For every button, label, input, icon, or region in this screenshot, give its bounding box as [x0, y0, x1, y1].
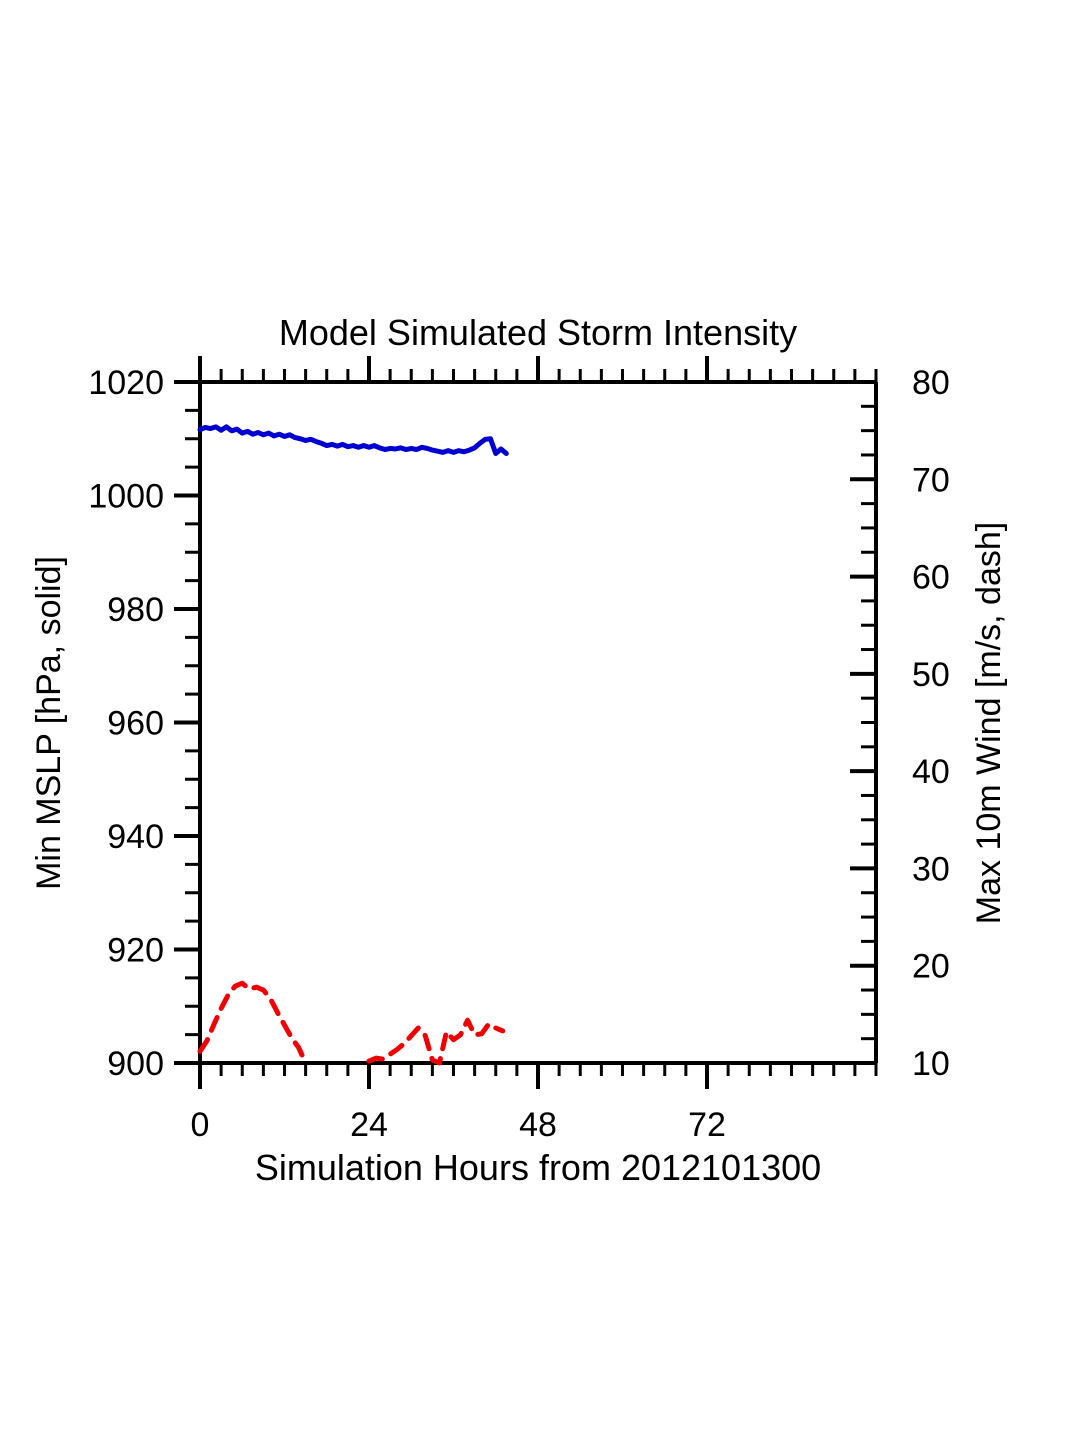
chart-title: Model Simulated Storm Intensity [279, 312, 797, 353]
y2-tick-label: 50 [912, 656, 950, 694]
y-tick-label: 900 [107, 1045, 164, 1083]
y2-tick-label: 30 [912, 850, 950, 888]
x-tick-label: 72 [688, 1106, 726, 1144]
y-tick-label: 1020 [88, 364, 164, 402]
y2-tick-label: 80 [912, 364, 950, 402]
y-tick-label: 940 [107, 818, 164, 856]
x-tick-label: 0 [191, 1106, 210, 1144]
y-tick-label: 960 [107, 705, 164, 743]
y2-tick-label: 70 [912, 461, 950, 499]
y2-tick-label: 10 [912, 1045, 950, 1083]
storm-intensity-chart: Model Simulated Storm Intensity 02448729… [0, 0, 1075, 1450]
y2-axis-title: Max 10m Wind [m/s, dash] [970, 522, 1008, 924]
x-tick-label: 48 [519, 1106, 557, 1144]
y2-tick-label: 20 [912, 948, 950, 986]
y-tick-label: 980 [107, 591, 164, 629]
y-axis-title: Min MSLP [hPa, solid] [30, 556, 68, 890]
x-axis-title: Simulation Hours from 2012101300 [255, 1147, 821, 1188]
y-tick-label: 920 [107, 932, 164, 970]
x-tick-label: 24 [350, 1106, 388, 1144]
y2-tick-label: 40 [912, 753, 950, 791]
chart-figure: Model Simulated Storm Intensity 02448729… [0, 0, 1075, 1450]
y2-tick-label: 60 [912, 559, 950, 597]
y-tick-label: 1000 [88, 478, 164, 516]
